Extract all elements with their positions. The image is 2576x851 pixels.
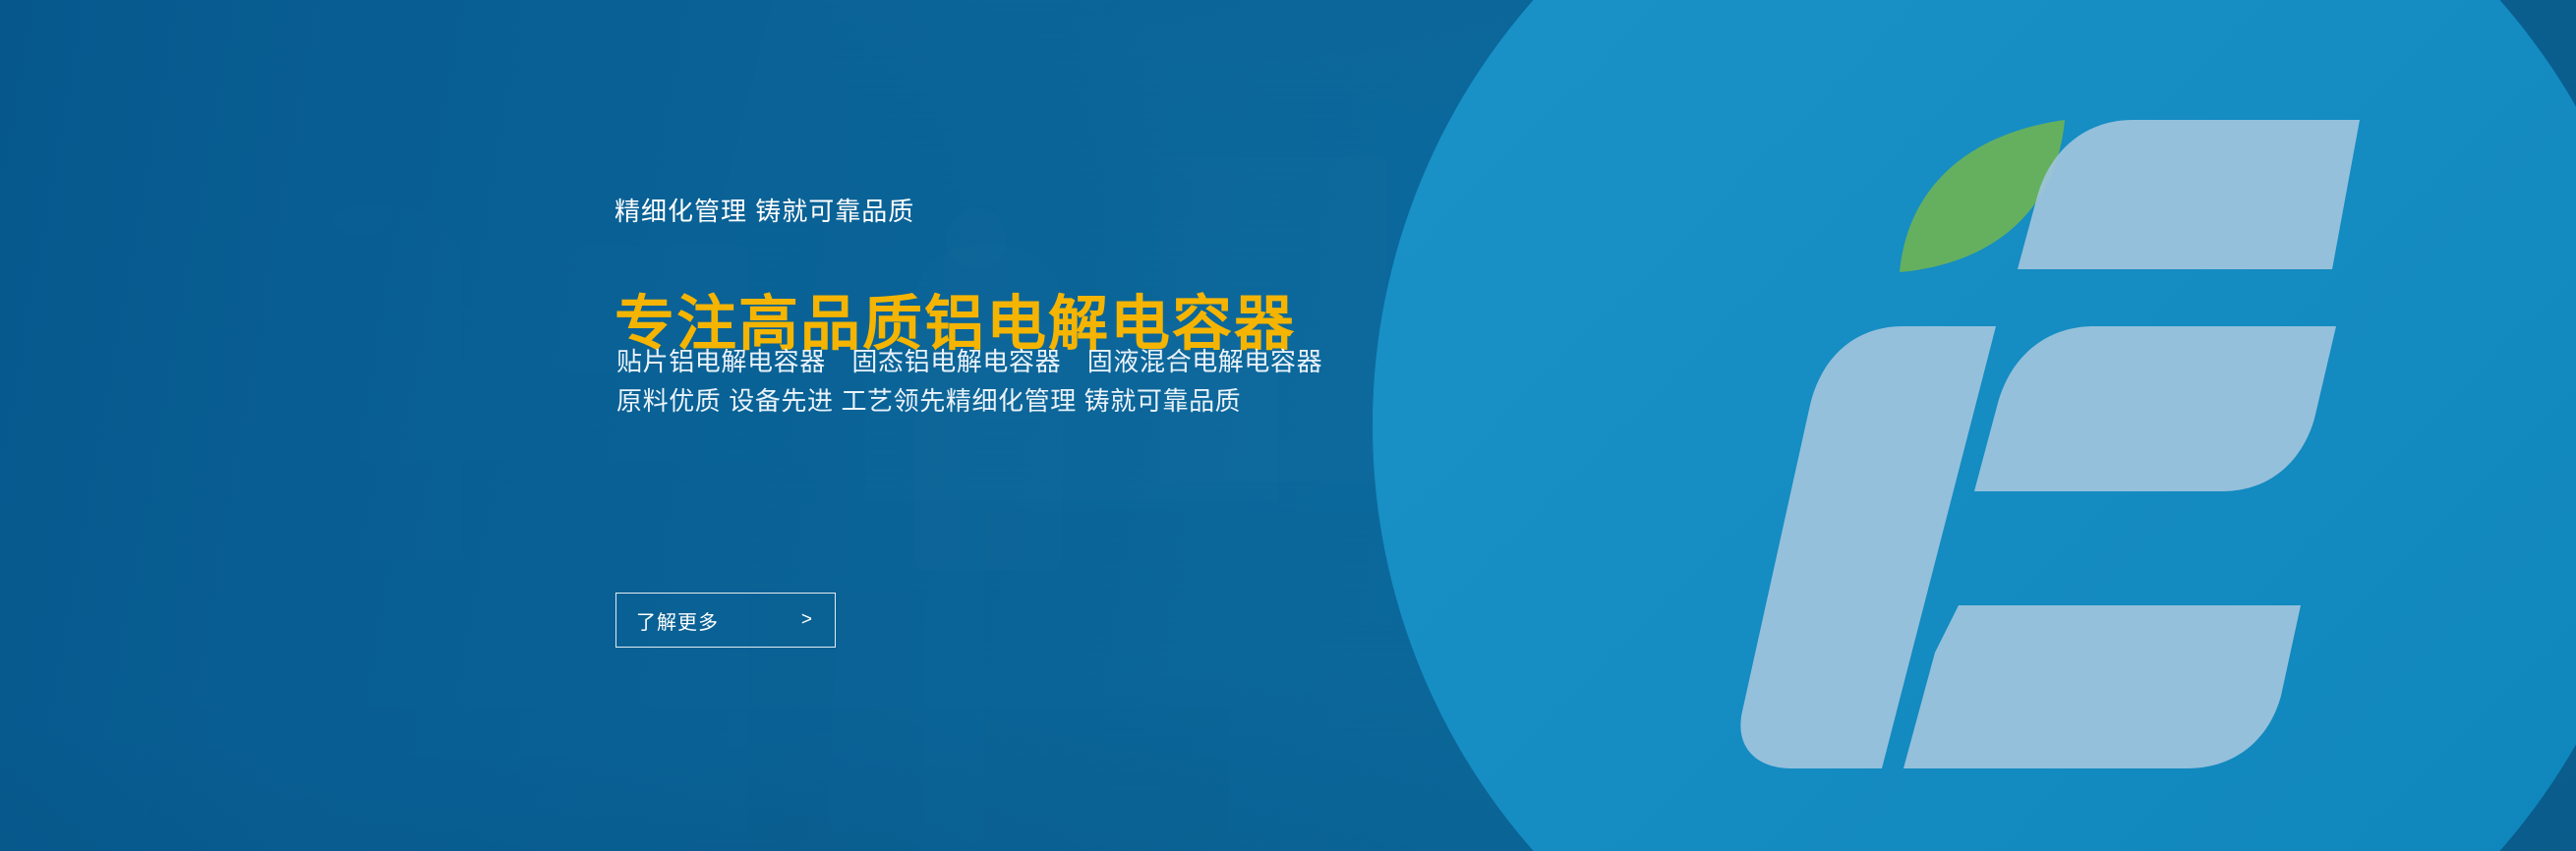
hero-eyebrow: 精细化管理 铸就可靠品质 (615, 192, 914, 228)
hero-description: 贴片铝电解电容器 固态铝电解电容器 固液混合电解电容器 原料优质 设备先进 工艺… (616, 342, 1322, 422)
brand-circle (1373, 0, 2576, 851)
hero-copy: 精细化管理 铸就可靠品质 专注高品质铝电解电容器 贴片铝电解电容器 固态铝电解电… (615, 0, 1519, 851)
learn-more-button[interactable]: 了解更多 > (615, 593, 836, 648)
chevron-right-icon: > (801, 610, 813, 629)
hero-banner: 精细化管理 铸就可靠品质 专注高品质铝电解电容器 贴片铝电解电容器 固态铝电解电… (0, 0, 2576, 851)
hero-description-line-2: 原料优质 设备先进 工艺领先精细化管理 铸就可靠品质 (616, 381, 1322, 421)
learn-more-label: 了解更多 (636, 606, 719, 635)
hero-description-line-1: 贴片铝电解电容器 固态铝电解电容器 固液混合电解电容器 (616, 342, 1322, 381)
